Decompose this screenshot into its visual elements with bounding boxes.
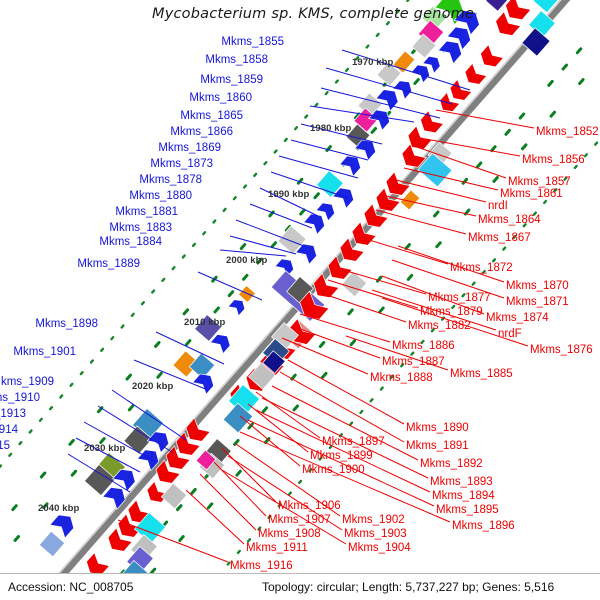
gene-label-mkms_1898[interactable]: Mkms_1898 (35, 318, 98, 330)
gene-label-mkms_1889[interactable]: Mkms_1889 (77, 258, 140, 270)
gene-label-mkms_1908[interactable]: Mkms_1908 (258, 528, 321, 540)
gene-label-mkms_1869[interactable]: Mkms_1869 (158, 142, 221, 154)
axis-tick-label: 2040 kbp (38, 503, 79, 515)
status-bar: Accession: NC_008705 Topology: circular;… (0, 573, 600, 600)
gene-label-mkms_1900[interactable]: Mkms_1900 (302, 464, 365, 476)
gene-label-mkms_1894[interactable]: Mkms_1894 (432, 490, 495, 502)
gene-label-mkms_1891[interactable]: Mkms_1891 (406, 440, 469, 452)
gene-label-mkms_1884[interactable]: Mkms_1884 (99, 236, 162, 248)
accession-text: Accession: NC_008705 (8, 580, 133, 594)
genome-feature (239, 286, 256, 303)
gene-label-mkms_1873[interactable]: Mkms_1873 (150, 158, 213, 170)
gene-label-mkms_1895[interactable]: Mkms_1895 (436, 504, 499, 516)
gene-label-mkms_1876[interactable]: Mkms_1876 (530, 344, 593, 356)
gene-label-mkms_1896[interactable]: Mkms_1896 (452, 520, 515, 532)
gene-label-mkms_1870[interactable]: Mkms_1870 (506, 280, 569, 292)
genome-feature (417, 111, 444, 138)
gene-label-mkms_1885[interactable]: Mkms_1885 (450, 368, 513, 380)
gene-label-mkms_1866[interactable]: Mkms_1866 (170, 126, 233, 138)
gene-label-mkms_1871[interactable]: Mkms_1871 (506, 296, 569, 308)
axis-tick-label: 1980 kbp (310, 123, 351, 135)
genome-feature (304, 210, 329, 235)
gene-label-mkms_1879[interactable]: Mkms_1879 (420, 306, 483, 318)
axis-tick-label: 1970 kbp (352, 57, 393, 69)
gene-label-mkms_1907[interactable]: Mkms_1907 (268, 514, 331, 526)
gene-label-mkms_1877[interactable]: Mkms_1877 (428, 292, 491, 304)
axis-tick-label: 2030 kbp (84, 443, 125, 455)
gene-label-mkms_1858[interactable]: Mkms_1858 (205, 54, 268, 66)
gene-label-mkms_1859[interactable]: Mkms_1859 (200, 74, 263, 86)
genome-summary-text: Topology: circular; Length: 5,737,227 bp… (262, 580, 554, 594)
genome-map-viewer: Mycobacterium sp. KMS, complete genome 1… (0, 0, 600, 600)
axis-tick-label: 2020 kbp (132, 381, 173, 393)
gene-label-mkms_1893[interactable]: Mkms_1893 (430, 476, 493, 488)
gene-label-mkms_1901[interactable]: Mkms_1901 (13, 346, 76, 358)
gene-label-mkms_1915[interactable]: Mkms_1915 (0, 440, 10, 452)
gene-label-mkms_1883[interactable]: Mkms_1883 (109, 222, 172, 234)
page-title: Mycobacterium sp. KMS, complete genome (152, 6, 474, 22)
genome-feature (161, 483, 186, 508)
genome-feature (461, 63, 486, 88)
axis-tick-label: 1990 kbp (268, 189, 309, 201)
gene-label-mkms_1888[interactable]: Mkms_1888 (370, 372, 433, 384)
gene-label-nrdf[interactable]: nrdF (498, 328, 522, 340)
gene-label-mkms_1874[interactable]: Mkms_1874 (486, 312, 549, 324)
gene-label-nrdi[interactable]: nrdI (488, 200, 508, 212)
gene-label-mkms_1910[interactable]: Mkms_1910 (0, 392, 40, 404)
axis-tick-label: 2010 kbp (184, 317, 225, 329)
gene-label-mkms_1899[interactable]: Mkms_1899 (310, 450, 373, 462)
gene-label-mkms_1913[interactable]: Mkms_1913 (0, 408, 26, 420)
gene-label-mkms_1865[interactable]: Mkms_1865 (180, 110, 243, 122)
gene-label-mkms_1878[interactable]: Mkms_1878 (139, 174, 202, 186)
gene-label-mkms_1886[interactable]: Mkms_1886 (392, 340, 455, 352)
gene-label-mkms_1909[interactable]: Mkms_1909 (0, 376, 54, 388)
forward-strand-features (39, 0, 508, 557)
gene-label-mkms_1860[interactable]: Mkms_1860 (189, 92, 252, 104)
gene-label-mkms_1890[interactable]: Mkms_1890 (406, 422, 469, 434)
gene-label-mkms_1872[interactable]: Mkms_1872 (450, 262, 513, 274)
gene-label-mkms_1916[interactable]: Mkms_1916 (230, 560, 293, 572)
gene-label-mkms_1914[interactable]: Mkms_1914 (0, 424, 18, 436)
gene-label-mkms_1881[interactable]: Mkms_1881 (115, 206, 178, 218)
gene-label-mkms_1906[interactable]: Mkms_1906 (278, 500, 341, 512)
gene-label-mkms_1880[interactable]: Mkms_1880 (129, 190, 192, 202)
genome-feature (39, 531, 64, 556)
gene-label-mkms_1867[interactable]: Mkms_1867 (468, 232, 531, 244)
gene-label-mkms_1861[interactable]: Mkms_1861 (500, 188, 563, 200)
gene-label-mkms_1852[interactable]: Mkms_1852 (536, 126, 599, 138)
gene-label-mkms_1902[interactable]: Mkms_1902 (342, 514, 405, 526)
genome-feature (486, 0, 509, 11)
axis-tick-label: 2000 kbp (226, 255, 267, 267)
gene-label-mkms_1892[interactable]: Mkms_1892 (420, 458, 483, 470)
gene-label-mkms_1903[interactable]: Mkms_1903 (344, 528, 407, 540)
gene-label-mkms_1911[interactable]: Mkms_1911 (246, 542, 308, 554)
gene-label-mkms_1855[interactable]: Mkms_1855 (221, 36, 284, 48)
gene-label-mkms_1904[interactable]: Mkms_1904 (348, 542, 411, 554)
gene-label-mkms_1857[interactable]: Mkms_1857 (508, 176, 571, 188)
gene-label-mkms_1897[interactable]: Mkms_1897 (322, 436, 385, 448)
gene-label-mkms_1856[interactable]: Mkms_1856 (522, 154, 585, 166)
gene-label-mkms_1887[interactable]: Mkms_1887 (382, 356, 445, 368)
gene-label-mkms_1864[interactable]: Mkms_1864 (478, 214, 541, 226)
gene-label-mkms_1882[interactable]: Mkms_1882 (408, 320, 471, 332)
